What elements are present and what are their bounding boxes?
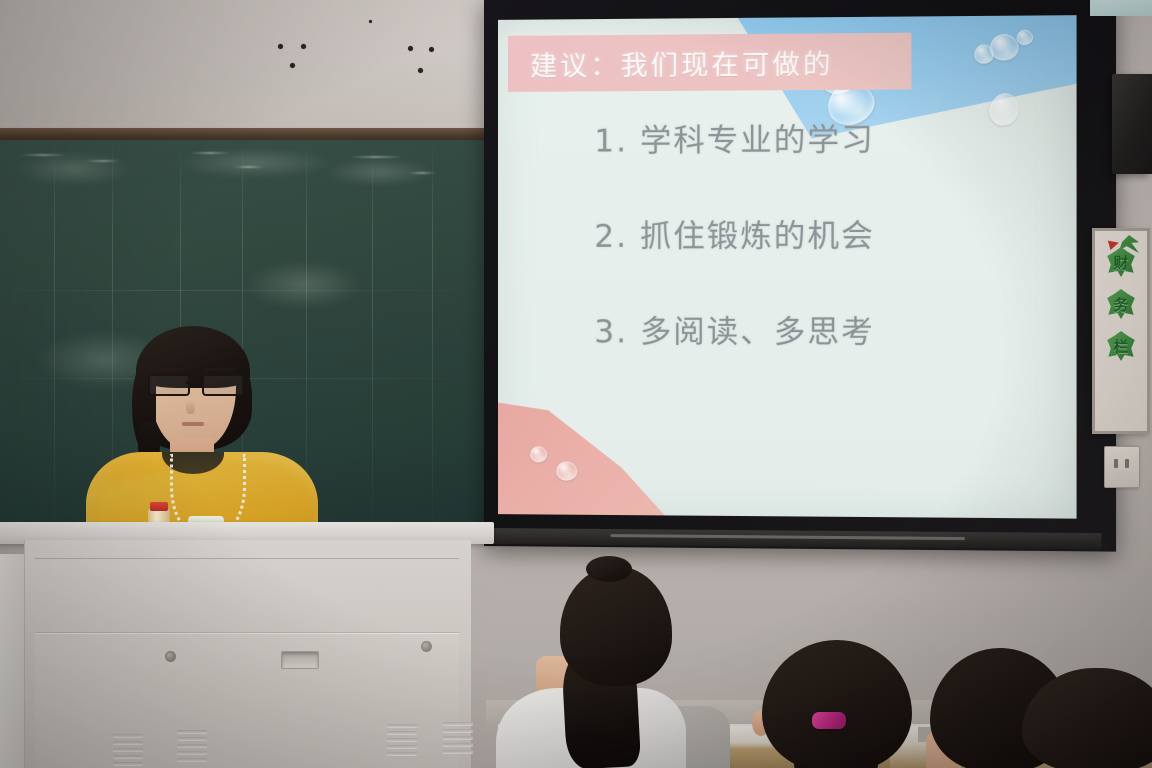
podium-screw-left [165, 651, 176, 662]
water-droplet-icon [556, 461, 577, 480]
slide-title-text: 建议：我们现在可做的 [508, 42, 834, 83]
presenter-mouth [182, 422, 204, 426]
student-1-head [560, 566, 672, 686]
podium-front-panel [35, 632, 459, 768]
wall-nail-hole [418, 68, 423, 73]
glasses-lens-left [148, 374, 190, 396]
upper-wall-section [0, 0, 486, 132]
water-bottle-cap [150, 502, 168, 511]
projection-screen-assembly: 建议：我们现在可做的 1. 学科专业的学习 2. 抓住锻炼的机会 3. 多阅读、… [484, 0, 1104, 546]
student-1 [500, 560, 730, 768]
presenter-glasses [146, 374, 242, 392]
podium-body [24, 540, 471, 768]
water-droplet-icon [530, 446, 547, 462]
slide-bullet-2: 2. 抓住锻炼的机会 [594, 210, 1076, 256]
wall-nail-hole [301, 44, 306, 49]
student-4-head [1022, 668, 1152, 768]
slide-pink-accent-shape [498, 374, 704, 519]
student-2-hair-tie [812, 712, 846, 729]
wall-nail-hole [429, 47, 434, 52]
wall-nail-hole [408, 46, 413, 51]
lectern-podium [0, 522, 494, 768]
secondary-screen-strip [1090, 0, 1152, 16]
poster-char-2: 务 [1113, 294, 1128, 315]
poster-char-3: 栏 [1113, 336, 1128, 357]
screen-bottom-weight-bar [490, 528, 1102, 549]
poster-char-1: 财 [1113, 252, 1128, 273]
podium-vent-3 [387, 719, 417, 759]
podium-vent-4 [443, 717, 473, 757]
podium-left-side-panel [0, 554, 26, 768]
student-2-head [762, 640, 912, 768]
slide-bullet-1: 1. 学科专业的学习 [594, 113, 1076, 161]
podium-seam-line [35, 558, 459, 559]
wall-speaker [1112, 74, 1152, 174]
poster-leaf-3: 栏 [1106, 331, 1136, 361]
podium-vent-2 [177, 725, 207, 765]
podium-vent-1 [113, 729, 143, 768]
glasses-bridge [186, 381, 202, 384]
wall-power-outlet[interactable] [1104, 446, 1140, 488]
slide-bullet-3: 3. 多阅读、多思考 [594, 306, 1076, 352]
slide-title-banner: 建议：我们现在可做的 [508, 33, 911, 92]
water-droplet-icon [1017, 30, 1034, 45]
wall-nail-hole [278, 44, 283, 49]
slide-bullet-list: 1. 学科专业的学习 2. 抓住锻炼的机会 3. 多阅读、多思考 [498, 113, 1077, 353]
poster-leaf-2: 务 [1106, 289, 1136, 319]
classroom-scene: 建议：我们现在可做的 1. 学科专业的学习 2. 抓住锻炼的机会 3. 多阅读、… [0, 0, 1152, 768]
podium-screw-right [421, 641, 432, 652]
wall-nail-hole [290, 63, 295, 68]
projection-screen[interactable]: 建议：我们现在可做的 1. 学科专业的学习 2. 抓住锻炼的机会 3. 多阅读、… [484, 0, 1116, 552]
water-droplet-icon [990, 34, 1019, 61]
presenter-eyebrow-right [204, 368, 234, 371]
presentation-slide[interactable]: 建议：我们现在可做的 1. 学科专业的学习 2. 抓住锻炼的机会 3. 多阅读、… [498, 15, 1077, 518]
student-2 [738, 640, 948, 768]
student-1-hair-bun [586, 556, 632, 582]
student-4 [1022, 668, 1152, 768]
wall-poster-finance-board: 财 务 栏 [1092, 228, 1150, 434]
poster-leaf-1: 财 [1106, 247, 1136, 277]
podium-drawer-handle[interactable] [281, 651, 319, 669]
presenter-nose [186, 400, 195, 414]
wall-nail-hole [369, 20, 372, 23]
presenter-eyebrow-left [154, 368, 184, 371]
glasses-lens-right [202, 374, 244, 396]
